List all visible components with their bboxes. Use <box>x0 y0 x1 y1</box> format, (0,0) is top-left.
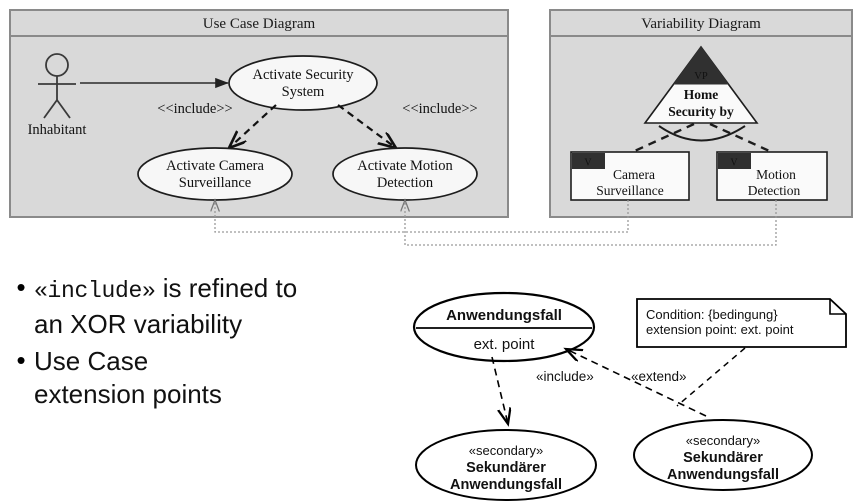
use-case-secondary-right: «secondary» Sekundärer Anwendungsfall <box>634 420 812 490</box>
variability-diagram-title: Variability Diagram <box>551 11 851 37</box>
note-condition: Condition: {bedingung} extension point: … <box>637 299 846 347</box>
secondary-line2: Anwendungsfall <box>450 477 562 493</box>
bullet-marker: • <box>8 272 34 302</box>
bullet-marker: • <box>8 345 34 375</box>
secondary-stereotype: «secondary» <box>469 443 543 458</box>
use-case-extension-point: ext. point <box>474 336 536 353</box>
bullet-body: Use Case extension points <box>34 345 222 411</box>
include-keyword: «include» <box>34 278 156 304</box>
bullet-body: «include» is refined to an XOR variabili… <box>34 272 297 341</box>
bullet-rest: is refined to <box>156 273 298 303</box>
secondary-stereotype: «secondary» <box>686 433 760 448</box>
variability-diagram-frame: Variability Diagram <box>549 9 853 218</box>
note-line1: Condition: {bedingung} <box>646 307 778 322</box>
bullet-rest: Use Case <box>34 346 148 376</box>
extend-relation-label: «extend» <box>631 369 687 384</box>
list-item: • «include» is refined to an XOR variabi… <box>8 272 408 341</box>
secondary-line1: Sekundärer <box>466 460 546 476</box>
use-case-diagram-title: Use Case Diagram <box>11 11 507 37</box>
secondary-line1: Sekundärer <box>683 450 763 466</box>
use-case-secondary-left: «secondary» Sekundärer Anwendungsfall <box>416 430 596 500</box>
secondary-line2: Anwendungsfall <box>667 467 779 483</box>
list-item: • Use Case extension points <box>8 345 408 411</box>
use-case-name: Anwendungsfall <box>446 307 562 324</box>
extend-arrow-secondary-right <box>566 349 706 416</box>
use-case-diagram-frame: Use Case Diagram <box>9 9 509 218</box>
note-line2: extension point: ext. point <box>646 322 794 337</box>
slide-canvas: Use Case Diagram Variability Diagram <box>0 0 866 503</box>
include-relation-label: «include» <box>536 369 594 384</box>
bullet-line2: extension points <box>34 379 222 409</box>
include-arrow-secondary-left <box>492 357 508 424</box>
bullet-list: • «include» is refined to an XOR variabi… <box>8 272 408 415</box>
use-case-anwendungsfall: Anwendungsfall ext. point <box>414 293 594 361</box>
bullet-line2: an XOR variability <box>34 309 242 339</box>
note-anchor-line <box>677 348 745 406</box>
